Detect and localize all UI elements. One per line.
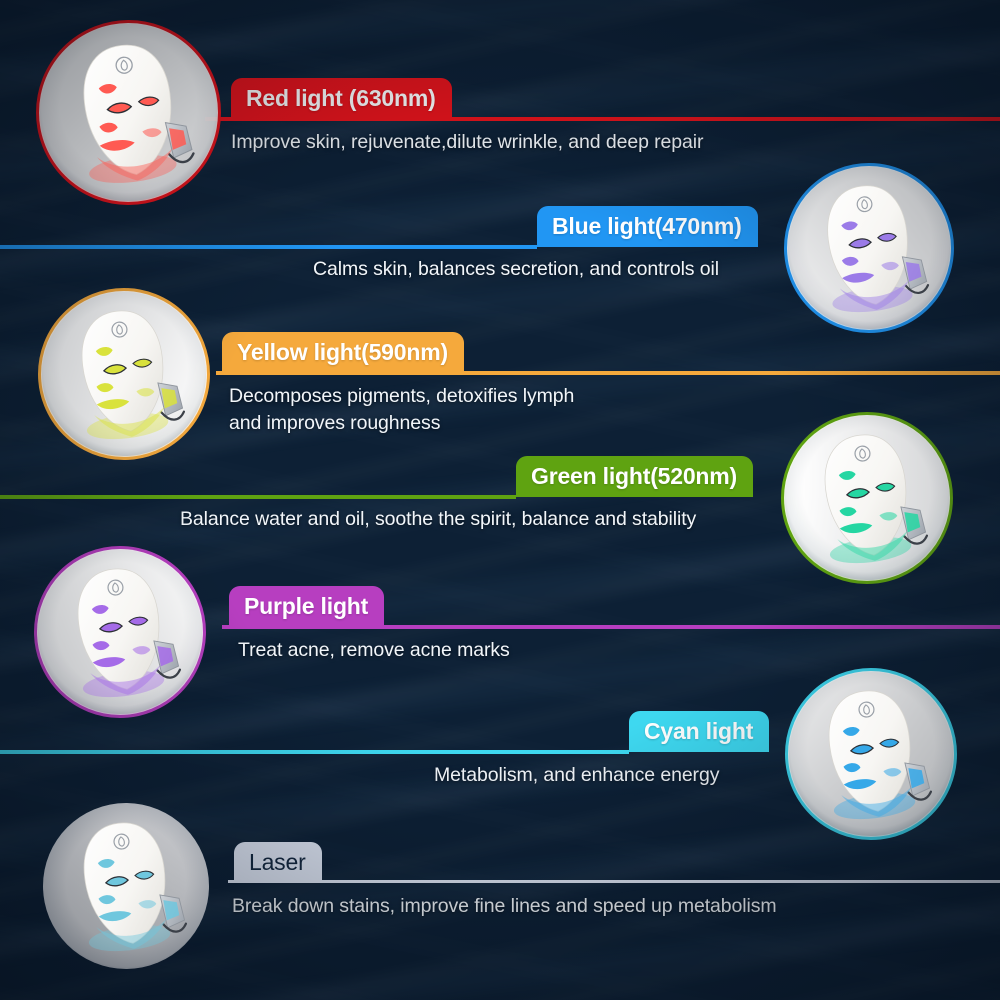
description-green: Balance water and oil, soothe the spirit… [180,506,696,533]
badge-yellow[interactable]: Yellow light(590nm) [222,332,464,373]
divider-cyan [0,750,629,754]
divider-laser [228,880,1000,883]
mask-image-purple [34,546,206,718]
badge-blue[interactable]: Blue light(470nm) [537,206,758,247]
description-red: Improve skin, rejuvenate,dilute wrinkle,… [231,129,703,156]
description-laser: Break down stains, improve fine lines an… [232,893,777,920]
led-face-mask-icon [55,559,184,706]
description-blue: Calms skin, balances secretion, and cont… [313,256,719,283]
description-yellow: Decomposes pigments, detoxifies lymph an… [229,383,574,437]
description-purple: Treat acne, remove acne marks [238,637,510,664]
badge-purple[interactable]: Purple light [229,586,384,627]
description-cyan: Metabolism, and enhance energy [434,762,719,789]
badge-laser[interactable]: Laser [234,842,322,883]
mask-image-yellow [38,288,210,460]
badge-cyan[interactable]: Cyan light [629,711,769,752]
led-face-mask-icon [61,813,190,960]
mask-image-red [36,20,221,205]
mask-image-laser [40,800,212,972]
badge-red[interactable]: Red light (630nm) [231,78,452,119]
led-face-mask-icon [806,681,935,828]
led-face-mask-icon [59,301,188,448]
infographic-canvas: Red light (630nm) Improve skin, rejuvena… [0,0,1000,1000]
mask-image-cyan [785,668,957,840]
led-face-mask-icon [805,176,932,321]
led-face-mask-icon [802,425,931,572]
divider-blue [0,245,537,249]
divider-green [0,495,516,499]
mask-image-blue [784,163,954,333]
mask-image-green [781,412,953,584]
led-face-mask-icon [59,34,198,192]
badge-green[interactable]: Green light(520nm) [516,456,753,497]
